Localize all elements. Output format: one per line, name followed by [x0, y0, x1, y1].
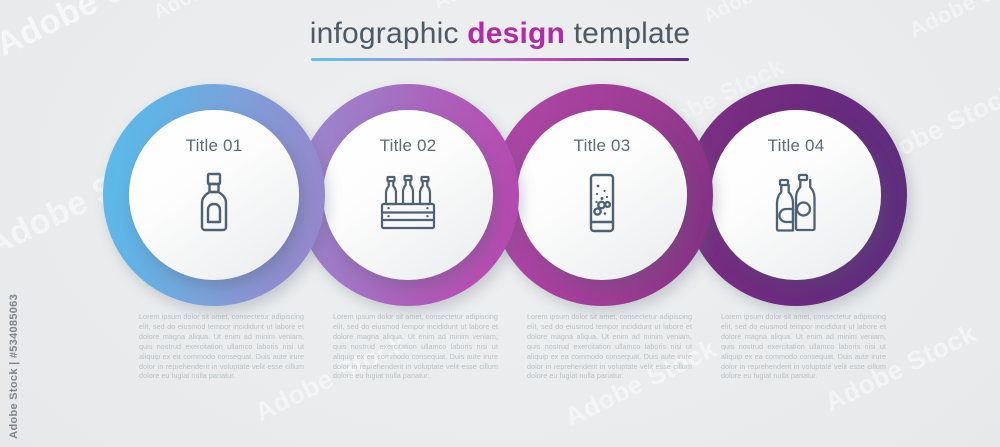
watermark-tile: Adobe Stock	[430, 0, 555, 15]
step-disc-3[interactable]: Title 03	[517, 110, 687, 280]
step-description-1: Lorem ipsum dolor sit amet, consectetur …	[139, 312, 304, 381]
bottle-icon	[183, 170, 245, 236]
step-title-2: Title 02	[380, 136, 437, 156]
step-title-1: Title 01	[186, 136, 243, 156]
step-ring-row: Title 01 Title 02	[0, 84, 1000, 306]
page-title-part1: infographic	[310, 17, 468, 50]
step-description-4: Lorem ipsum dolor sit amet, consectetur …	[721, 312, 886, 381]
soda-glass-icon	[571, 170, 633, 236]
infographic-canvas: Adobe Stock Adobe Stock Adobe Stock Adob…	[0, 0, 1000, 447]
title-underline-rule	[311, 58, 689, 61]
step-description-3: Lorem ipsum dolor sit amet, consectetur …	[527, 312, 692, 381]
step-disc-4[interactable]: Title 04	[711, 110, 881, 280]
step-card-2[interactable]: Title 02	[297, 84, 519, 306]
step-description-row: Lorem ipsum dolor sit amet, consectetur …	[0, 312, 1000, 412]
page-title-accent: design	[467, 17, 565, 50]
page-title-part2: template	[565, 17, 690, 50]
step-card-1[interactable]: Title 01	[103, 84, 325, 306]
step-description-2: Lorem ipsum dolor sit amet, consectetur …	[333, 312, 498, 381]
bottle-crate-icon	[377, 170, 439, 236]
step-disc-1[interactable]: Title 01	[129, 110, 299, 280]
step-card-4[interactable]: Title 04	[685, 84, 907, 306]
step-title-4: Title 04	[768, 136, 825, 156]
step-card-3[interactable]: Title 03	[491, 84, 713, 306]
page-title: infographic design template	[0, 16, 1000, 52]
wine-bottles-icon	[765, 170, 827, 236]
header: infographic design template	[0, 16, 1000, 61]
step-title-3: Title 03	[574, 136, 631, 156]
step-disc-2[interactable]: Title 02	[323, 110, 493, 280]
